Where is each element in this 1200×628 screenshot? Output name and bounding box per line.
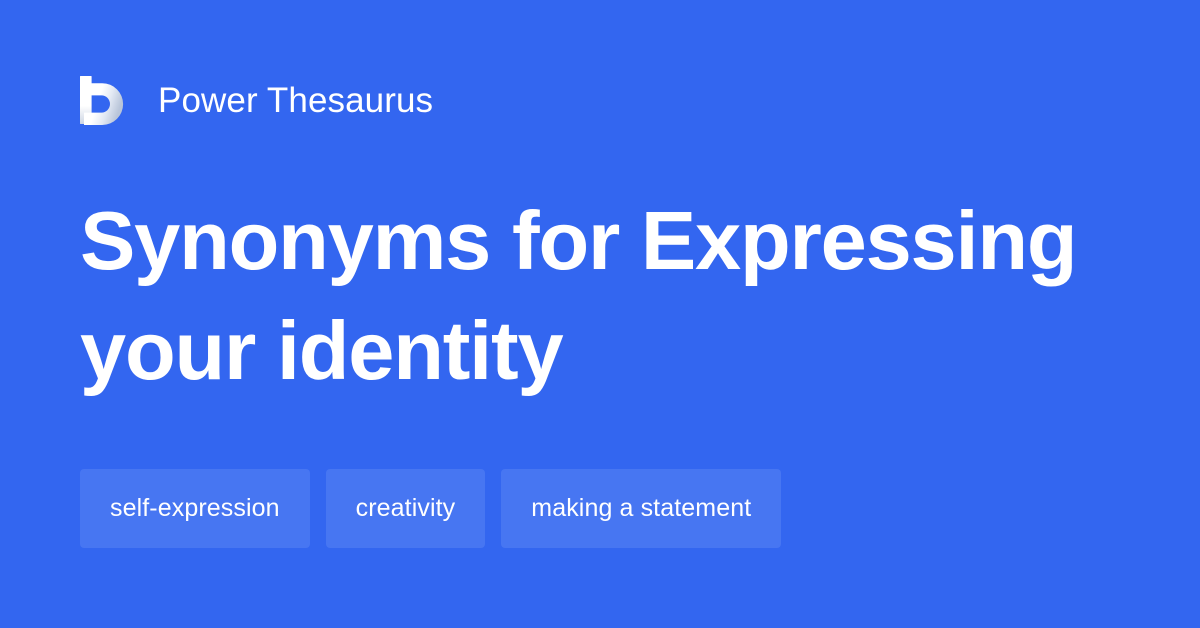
synonym-chip[interactable]: self-expression (80, 469, 310, 548)
synonym-chip-list: self-expression creativity making a stat… (80, 469, 781, 548)
power-thesaurus-b-logo-icon (80, 75, 126, 125)
brand-name: Power Thesaurus (158, 83, 433, 118)
page-title: Synonyms for Expressing your identity (80, 186, 1120, 406)
synonym-chip[interactable]: creativity (326, 469, 486, 548)
share-card: Power Thesaurus Synonyms for Expressing … (0, 0, 1200, 628)
brand-logo[interactable]: Power Thesaurus (80, 72, 433, 128)
synonym-chip[interactable]: making a statement (501, 469, 781, 548)
